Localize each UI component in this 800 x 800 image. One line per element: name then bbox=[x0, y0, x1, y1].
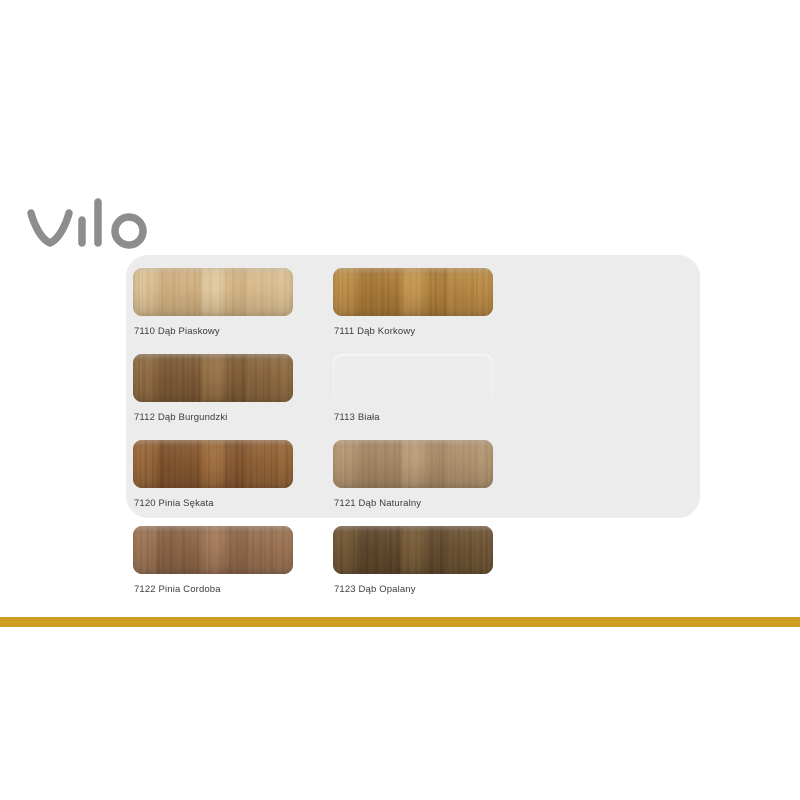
swatch-shade bbox=[333, 440, 493, 488]
swatch-chip-7110[interactable] bbox=[133, 268, 293, 316]
swatch-shade bbox=[133, 354, 293, 402]
swatch-label-7110: 7110 Dąb Piaskowy bbox=[134, 326, 220, 337]
swatch-label-7120: 7120 Pinia Sękata bbox=[134, 498, 214, 509]
swatch-label-7112: 7112 Dąb Burgundzki bbox=[134, 412, 228, 423]
swatch-shade bbox=[133, 526, 293, 574]
swatch-shade bbox=[133, 440, 293, 488]
vilo-logo bbox=[26, 196, 206, 252]
gold-divider-rule bbox=[0, 617, 800, 627]
swatch-label-7113: 7113 Biała bbox=[334, 412, 380, 423]
swatch-chip-7120[interactable] bbox=[133, 440, 293, 488]
swatch-label-7123: 7123 Dąb Opalany bbox=[334, 584, 416, 595]
swatch-item-7110[interactable]: 7110 Dąb Piaskowy bbox=[133, 268, 333, 354]
swatch-shade bbox=[333, 354, 493, 402]
swatch-label-7122: 7122 Pinia Cordoba bbox=[134, 584, 221, 595]
swatch-chip-7113[interactable] bbox=[333, 354, 493, 402]
swatch-card: 7110 Dąb Piaskowy 7111 Dąb Korkowy bbox=[126, 255, 700, 518]
swatch-board-page: 7110 Dąb Piaskowy 7111 Dąb Korkowy bbox=[0, 0, 800, 800]
swatch-chip-7121[interactable] bbox=[333, 440, 493, 488]
swatch-item-7111[interactable]: 7111 Dąb Korkowy bbox=[333, 268, 533, 354]
swatch-label-7111: 7111 Dąb Korkowy bbox=[334, 326, 415, 337]
swatch-item-7112[interactable]: 7112 Dąb Burgundzki bbox=[133, 354, 333, 440]
swatch-chip-7122[interactable] bbox=[133, 526, 293, 574]
swatch-item-7123[interactable]: 7123 Dąb Opalany bbox=[333, 526, 533, 612]
swatch-chip-7111[interactable] bbox=[333, 268, 493, 316]
swatch-label-7121: 7121 Dąb Naturalny bbox=[334, 498, 421, 509]
swatch-shade bbox=[133, 268, 293, 316]
swatch-chip-7112[interactable] bbox=[133, 354, 293, 402]
swatch-shade bbox=[333, 526, 493, 574]
swatch-item-7113[interactable]: 7113 Biała bbox=[333, 354, 533, 440]
swatch-shade bbox=[333, 268, 493, 316]
vilo-wordmark-icon bbox=[26, 196, 196, 252]
swatch-item-7121[interactable]: 7121 Dąb Naturalny bbox=[333, 440, 533, 526]
swatch-grid: 7110 Dąb Piaskowy 7111 Dąb Korkowy bbox=[133, 268, 693, 612]
swatch-item-7120[interactable]: 7120 Pinia Sękata bbox=[133, 440, 333, 526]
swatch-item-7122[interactable]: 7122 Pinia Cordoba bbox=[133, 526, 333, 612]
swatch-chip-7123[interactable] bbox=[333, 526, 493, 574]
